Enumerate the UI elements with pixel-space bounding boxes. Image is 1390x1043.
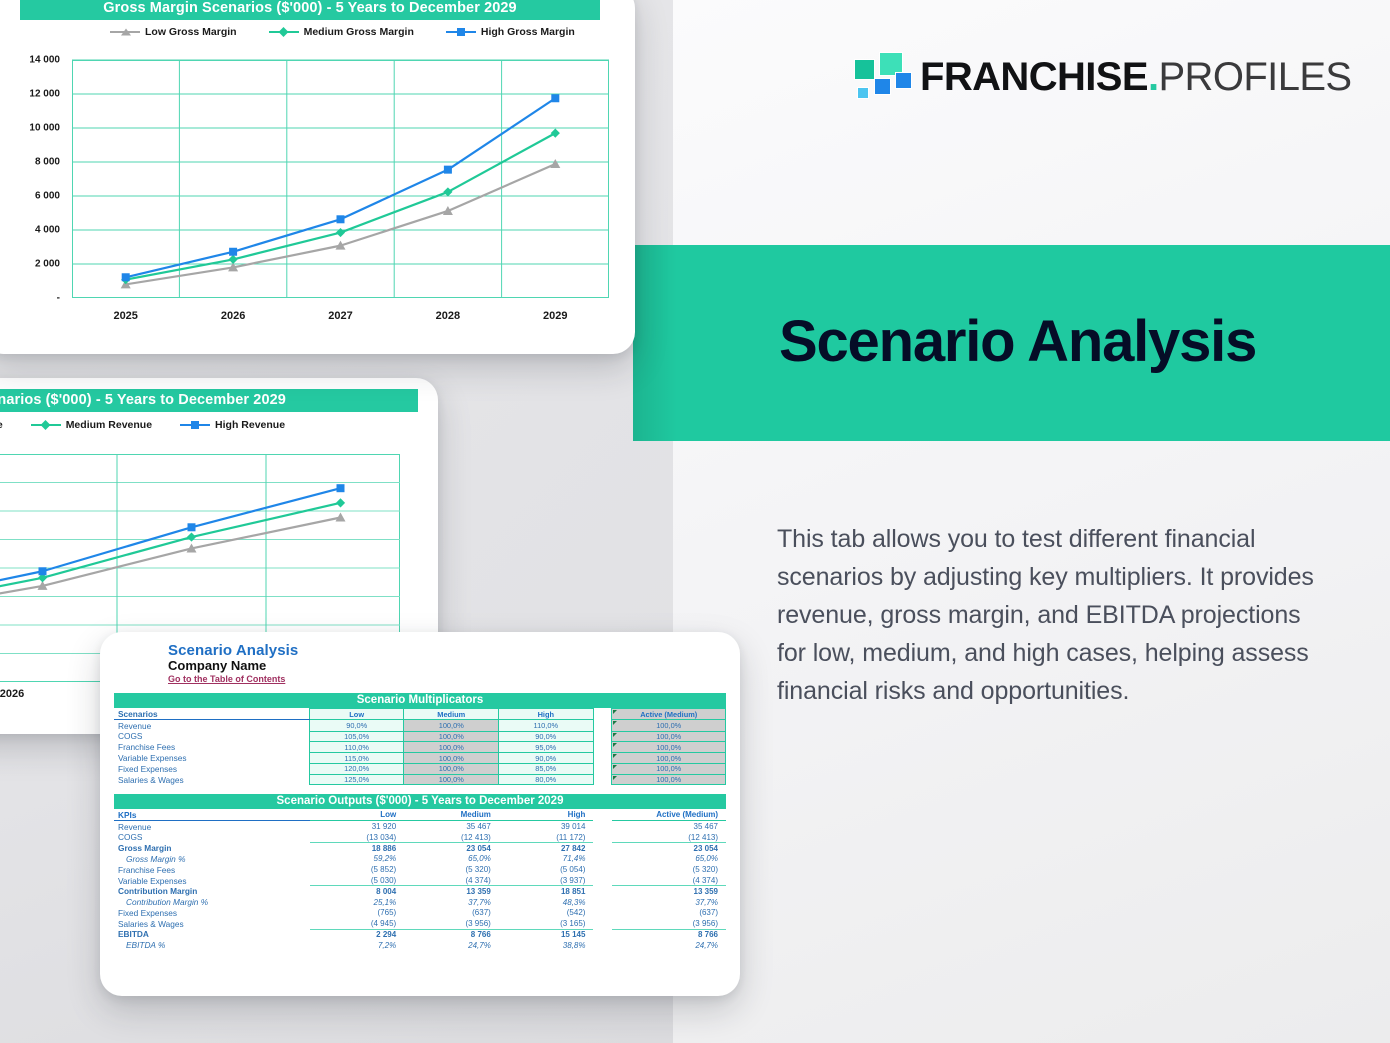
output-label: Contribution Margin (114, 886, 310, 897)
output-row: Gross Margin %59,2%65,0%71,4%65,0% (114, 854, 726, 865)
output-low: (765) (310, 908, 405, 919)
legend-item-medium-revenue[interactable]: Medium Revenue (31, 419, 152, 431)
legend-line-high-gross-margin (446, 31, 476, 33)
legend-label-high-revenue: High Revenue (215, 419, 285, 431)
output-high: 39 014 (499, 821, 594, 832)
output-low: 7,2% (310, 940, 405, 951)
data-point-marker (336, 498, 345, 507)
multiplicator-row: Variable Expenses115,0%100,0%90,0%100,0% (114, 753, 726, 764)
output-row: Contribution Margin8 00413 35918 85113 3… (114, 886, 726, 897)
data-point-marker (337, 215, 345, 223)
multiplicator-medium[interactable]: 100,0% (404, 753, 499, 764)
data-point-marker (551, 129, 560, 138)
logo-word-dot: . (1148, 55, 1159, 99)
output-high: 71,4% (499, 854, 594, 865)
output-medium: 35 467 (404, 821, 499, 832)
spreadsheet-body: Scenario Analysis Company Name Go to the… (100, 632, 740, 996)
gross-margin-plot-area (72, 60, 609, 298)
output-high: (11 172) (499, 832, 594, 843)
multiplicator-medium[interactable]: 100,0% (404, 763, 499, 774)
legend-line-medium-gross-margin (269, 31, 299, 33)
output-high: (5 054) (499, 864, 594, 875)
gross-margin-series-lines (72, 60, 609, 298)
data-point-marker (122, 273, 130, 281)
output-label: Salaries & Wages (114, 918, 310, 929)
triangle-marker-icon (121, 29, 131, 36)
gross-margin-ytick: 14 000 (2, 55, 60, 66)
data-point-marker (187, 532, 196, 541)
output-label: Revenue (114, 821, 310, 832)
data-point-marker (229, 255, 238, 264)
revenue-chart-title: ue Scenarios ($'000) - 5 Years to Decemb… (0, 389, 418, 412)
logo-word-franchise: FRANCHISE (920, 55, 1148, 99)
output-low: 8 004 (310, 886, 405, 897)
multiplicator-label: Salaries & Wages (114, 774, 309, 785)
spacer-cell (593, 774, 612, 785)
multiplicator-medium[interactable]: 100,0% (404, 731, 499, 742)
output-medium: 65,0% (404, 854, 499, 865)
output-active: 24,7% (612, 940, 726, 951)
multiplicator-high[interactable]: 85,0% (499, 763, 594, 774)
gross-margin-ytick: 8 000 (2, 157, 60, 168)
multiplicator-low[interactable]: 90,0% (309, 720, 404, 731)
output-low: 25,1% (310, 897, 405, 908)
gross-margin-chart-title: Gross Margin Scenarios ($'000) - 5 Years… (20, 0, 600, 20)
multiplicator-high[interactable]: 80,0% (499, 774, 594, 785)
page-title: Scenario Analysis (779, 313, 1379, 371)
output-label: Variable Expenses (114, 875, 310, 886)
diamond-marker-icon (40, 420, 50, 430)
output-low: (5 852) (310, 864, 405, 875)
series-line (0, 488, 341, 625)
output-label: EBITDA (114, 929, 310, 940)
data-point-marker (188, 523, 196, 531)
output-low: 2 294 (310, 929, 405, 940)
multiplicator-low[interactable]: 110,0% (309, 742, 404, 753)
multiplicator-low[interactable]: 105,0% (309, 731, 404, 742)
multiplicators-header-low: Low (309, 709, 404, 720)
multiplicator-active[interactable]: 100,0% (612, 731, 726, 742)
output-low: 59,2% (310, 854, 405, 865)
scenario-multiplicators-table: Scenarios Low Medium High Active (Medium… (114, 708, 726, 785)
gross-margin-xtick: 2026 (221, 310, 245, 322)
data-point-marker (337, 484, 345, 492)
output-active: 8 766 (612, 929, 726, 940)
square-marker-icon (457, 28, 465, 36)
gross-margin-chart-card: Gross Margin Scenarios ($'000) - 5 Years… (0, 0, 635, 354)
output-high: (3 937) (499, 875, 594, 886)
multiplicator-active[interactable]: 100,0% (612, 742, 726, 753)
logo-square-blue-mid (874, 78, 891, 95)
multiplicator-row: Franchise Fees110,0%100,0%95,0%100,0% (114, 742, 726, 753)
spreadsheet-heading: Scenario Analysis (114, 642, 726, 659)
series-line (0, 503, 341, 628)
gross-margin-xtick: 2028 (436, 310, 460, 322)
scenario-multiplicators-band: Scenario Multiplicators (114, 693, 726, 708)
output-medium: 37,7% (404, 897, 499, 908)
series-line (126, 98, 556, 277)
legend-line-low-gross-margin (110, 31, 140, 33)
legend-label-low-revenue: Low Revenue (0, 419, 3, 431)
output-medium: (5 320) (404, 864, 499, 875)
spacer-cell (593, 742, 612, 753)
multiplicator-active[interactable]: 100,0% (612, 753, 726, 764)
output-active: (5 320) (612, 864, 726, 875)
output-medium: (637) (404, 908, 499, 919)
multiplicators-header-active: Active (Medium) (612, 709, 726, 720)
multiplicator-active[interactable]: 100,0% (612, 763, 726, 774)
gross-margin-ytick: 12 000 (2, 89, 60, 100)
legend-label-high-gross-margin: High Gross Margin (481, 26, 575, 38)
output-row: Franchise Fees(5 852)(5 320)(5 054)(5 32… (114, 864, 726, 875)
multiplicator-row: Fixed Expenses120,0%100,0%85,0%100,0% (114, 763, 726, 774)
outputs-header-low: Low (310, 809, 405, 820)
outputs-header-row: KPIs Low Medium High Active (Medium) (114, 809, 726, 820)
output-medium: (12 413) (404, 832, 499, 843)
gross-margin-xtick: 2027 (328, 310, 352, 322)
multiplicator-medium[interactable]: 100,0% (404, 720, 499, 731)
multiplicators-header-gap (593, 709, 612, 720)
spreadsheet-subheading: Company Name (114, 658, 726, 673)
revenue-chart-legend: Low Revenue Medium Revenue High Revenue (0, 419, 285, 431)
output-row: Gross Margin18 88623 05427 84223 054 (114, 843, 726, 854)
output-high: (3 165) (499, 918, 594, 929)
gross-margin-ytick: 2 000 (2, 259, 60, 270)
output-label: Gross Margin % (114, 854, 310, 865)
output-high: 18 851 (499, 886, 594, 897)
output-active: (637) (612, 908, 726, 919)
data-point-marker (551, 94, 559, 102)
multiplicators-header-row: Scenarios Low Medium High Active (Medium… (114, 709, 726, 720)
output-active: (3 956) (612, 918, 726, 929)
output-row: Salaries & Wages(4 945)(3 956)(3 165)(3 … (114, 918, 726, 929)
data-point-marker (443, 187, 452, 196)
output-active: (12 413) (612, 832, 726, 843)
spacer-cell (593, 843, 612, 854)
output-medium: (3 956) (404, 918, 499, 929)
output-active: 23 054 (612, 843, 726, 854)
output-low: (13 034) (310, 832, 405, 843)
output-active: 35 467 (612, 821, 726, 832)
multiplicator-row: COGS105,0%100,0%90,0%100,0% (114, 731, 726, 742)
output-medium: 8 766 (404, 929, 499, 940)
logo-square-teal-large (854, 59, 875, 80)
spacer-cell (593, 929, 612, 940)
data-point-marker (336, 513, 346, 522)
page-description: This tab allows you to test different fi… (777, 520, 1333, 710)
square-marker-icon (191, 421, 199, 429)
output-medium: 13 359 (404, 886, 499, 897)
logo-square-blue-right (895, 72, 912, 89)
multiplicator-active[interactable]: 100,0% (612, 720, 726, 731)
output-high: 15 145 (499, 929, 594, 940)
multiplicator-label: Fixed Expenses (114, 763, 309, 774)
multiplicator-row: Salaries & Wages125,0%100,0%80,0%100,0% (114, 774, 726, 785)
outputs-header-kpis: KPIs (114, 809, 310, 820)
multiplicator-label: Franchise Fees (114, 742, 309, 753)
spacer-cell (593, 763, 612, 774)
series-line (126, 164, 556, 284)
outputs-header-high: High (499, 809, 594, 820)
multiplicators-header-medium: Medium (404, 709, 499, 720)
outputs-header-medium: Medium (404, 809, 499, 820)
gross-margin-data-lines (121, 94, 561, 288)
output-high: 38,8% (499, 940, 594, 951)
spacer-cell (593, 864, 612, 875)
gross-margin-xtick: 2025 (113, 310, 137, 322)
output-low: 18 886 (310, 843, 405, 854)
logo-word-profiles: PROFILES (1158, 55, 1351, 99)
spacer-cell (593, 875, 612, 886)
output-active: 65,0% (612, 854, 726, 865)
spacer-cell (593, 731, 612, 742)
revenue-xtick-2026: 2026 (0, 688, 24, 700)
outputs-rows: Revenue31 92035 46739 01435 467COGS(13 0… (114, 821, 726, 951)
output-low: 31 920 (310, 821, 405, 832)
legend-line-medium-revenue (31, 424, 61, 426)
spacer-cell (593, 908, 612, 919)
output-label: COGS (114, 832, 310, 843)
scenario-outputs-band: Scenario Outputs ($'000) - 5 Years to De… (114, 794, 726, 809)
output-label: Fixed Expenses (114, 908, 310, 919)
scenario-analysis-spreadsheet-card: Scenario Analysis Company Name Go to the… (100, 632, 740, 996)
output-row: EBITDA2 2948 76615 1458 766 (114, 929, 726, 940)
output-label: EBITDA % (114, 940, 310, 951)
gross-margin-ytick: - (2, 293, 60, 304)
data-point-marker (444, 166, 452, 174)
output-medium: 24,7% (404, 940, 499, 951)
output-active: 37,7% (612, 897, 726, 908)
spacer-cell (593, 897, 612, 908)
output-medium: (4 374) (404, 875, 499, 886)
legend-item-low-revenue[interactable]: Low Revenue (0, 419, 3, 431)
multiplicator-label: COGS (114, 731, 309, 742)
legend-item-medium-gross-margin[interactable]: Medium Gross Margin (269, 26, 414, 38)
multiplicator-row: Revenue90,0%100,0%110,0%100,0% (114, 720, 726, 731)
multiplicator-label: Variable Expenses (114, 753, 309, 764)
scenario-outputs-table: KPIs Low Medium High Active (Medium) Rev… (114, 809, 726, 950)
gross-margin-ytick: 4 000 (2, 225, 60, 236)
multiplicator-high[interactable]: 110,0% (499, 720, 594, 731)
multiplicator-low[interactable]: 115,0% (309, 753, 404, 764)
data-point-marker (39, 567, 47, 575)
legend-item-high-revenue[interactable]: High Revenue (180, 419, 285, 431)
legend-item-low-gross-margin[interactable]: Low Gross Margin (110, 26, 237, 38)
outputs-header-gap (593, 809, 612, 820)
data-point-marker (550, 159, 560, 168)
legend-label-medium-revenue: Medium Revenue (66, 419, 152, 431)
output-row: Revenue31 92035 46739 01435 467 (114, 821, 726, 832)
spacer-cell (593, 918, 612, 929)
gross-margin-ytick: 6 000 (2, 191, 60, 202)
diamond-marker-icon (278, 27, 288, 37)
legend-line-high-revenue (180, 424, 210, 426)
multiplicator-medium[interactable]: 100,0% (404, 774, 499, 785)
output-active: 13 359 (612, 886, 726, 897)
output-high: 48,3% (499, 897, 594, 908)
multiplicators-header-scenarios: Scenarios (114, 709, 309, 720)
output-active: (4 374) (612, 875, 726, 886)
output-high: (542) (499, 908, 594, 919)
output-low: (5 030) (310, 875, 405, 886)
spacer-cell (593, 821, 612, 832)
output-high: 27 842 (499, 843, 594, 854)
data-point-marker (229, 248, 237, 256)
series-line (126, 133, 556, 280)
output-low: (4 945) (310, 918, 405, 929)
brand-logo: FRANCHISE.PROFILES (852, 48, 1352, 106)
gross-margin-chart-legend: Low Gross Margin Medium Gross Margin Hig… (110, 26, 575, 38)
spacer-cell (593, 940, 612, 951)
multiplicator-low[interactable]: 125,0% (309, 774, 404, 785)
output-row: COGS(13 034)(12 413)(11 172)(12 413) (114, 832, 726, 843)
output-label: Contribution Margin % (114, 897, 310, 908)
logo-square-lightblue-small (857, 87, 869, 99)
spacer-cell (593, 854, 612, 865)
output-row: Contribution Margin %25,1%37,7%48,3%37,7… (114, 897, 726, 908)
outputs-header-active: Active (Medium) (612, 809, 726, 820)
output-row: EBITDA %7,2%24,7%38,8%24,7% (114, 940, 726, 951)
data-point-marker (336, 228, 345, 237)
gross-margin-ytick: 10 000 (2, 123, 60, 134)
logo-mark-icon (852, 51, 910, 103)
gross-margin-gridlines (72, 60, 609, 298)
legend-label-low-gross-margin: Low Gross Margin (145, 26, 237, 38)
multiplicator-high[interactable]: 90,0% (499, 731, 594, 742)
output-label: Franchise Fees (114, 864, 310, 875)
multiplicator-high[interactable]: 90,0% (499, 753, 594, 764)
table-of-contents-link[interactable]: Go to the Table of Contents (114, 674, 726, 684)
multiplicator-medium[interactable]: 100,0% (404, 742, 499, 753)
output-row: Variable Expenses(5 030)(4 374)(3 937)(4… (114, 875, 726, 886)
multiplicator-high[interactable]: 95,0% (499, 742, 594, 753)
multiplicator-low[interactable]: 120,0% (309, 763, 404, 774)
output-row: Fixed Expenses(765)(637)(542)(637) (114, 908, 726, 919)
gross-margin-xtick: 2029 (543, 310, 567, 322)
multiplicator-label: Revenue (114, 720, 309, 731)
legend-item-high-gross-margin[interactable]: High Gross Margin (446, 26, 575, 38)
spacer-cell (593, 886, 612, 897)
multiplicator-active[interactable]: 100,0% (612, 774, 726, 785)
screenshot-root: FRANCHISE.PROFILES Scenario Analysis Thi… (0, 0, 1390, 1043)
output-label: Gross Margin (114, 843, 310, 854)
multiplicators-rows: Revenue90,0%100,0%110,0%100,0%COGS105,0%… (114, 720, 726, 785)
revenue-data-lines (0, 484, 346, 631)
spacer-cell (593, 753, 612, 764)
logo-wordmark: FRANCHISE.PROFILES (920, 57, 1352, 97)
output-medium: 23 054 (404, 843, 499, 854)
spacer-cell (593, 720, 612, 731)
multiplicators-header-high: High (499, 709, 594, 720)
spacer-cell (593, 832, 612, 843)
legend-label-medium-gross-margin: Medium Gross Margin (304, 26, 414, 38)
